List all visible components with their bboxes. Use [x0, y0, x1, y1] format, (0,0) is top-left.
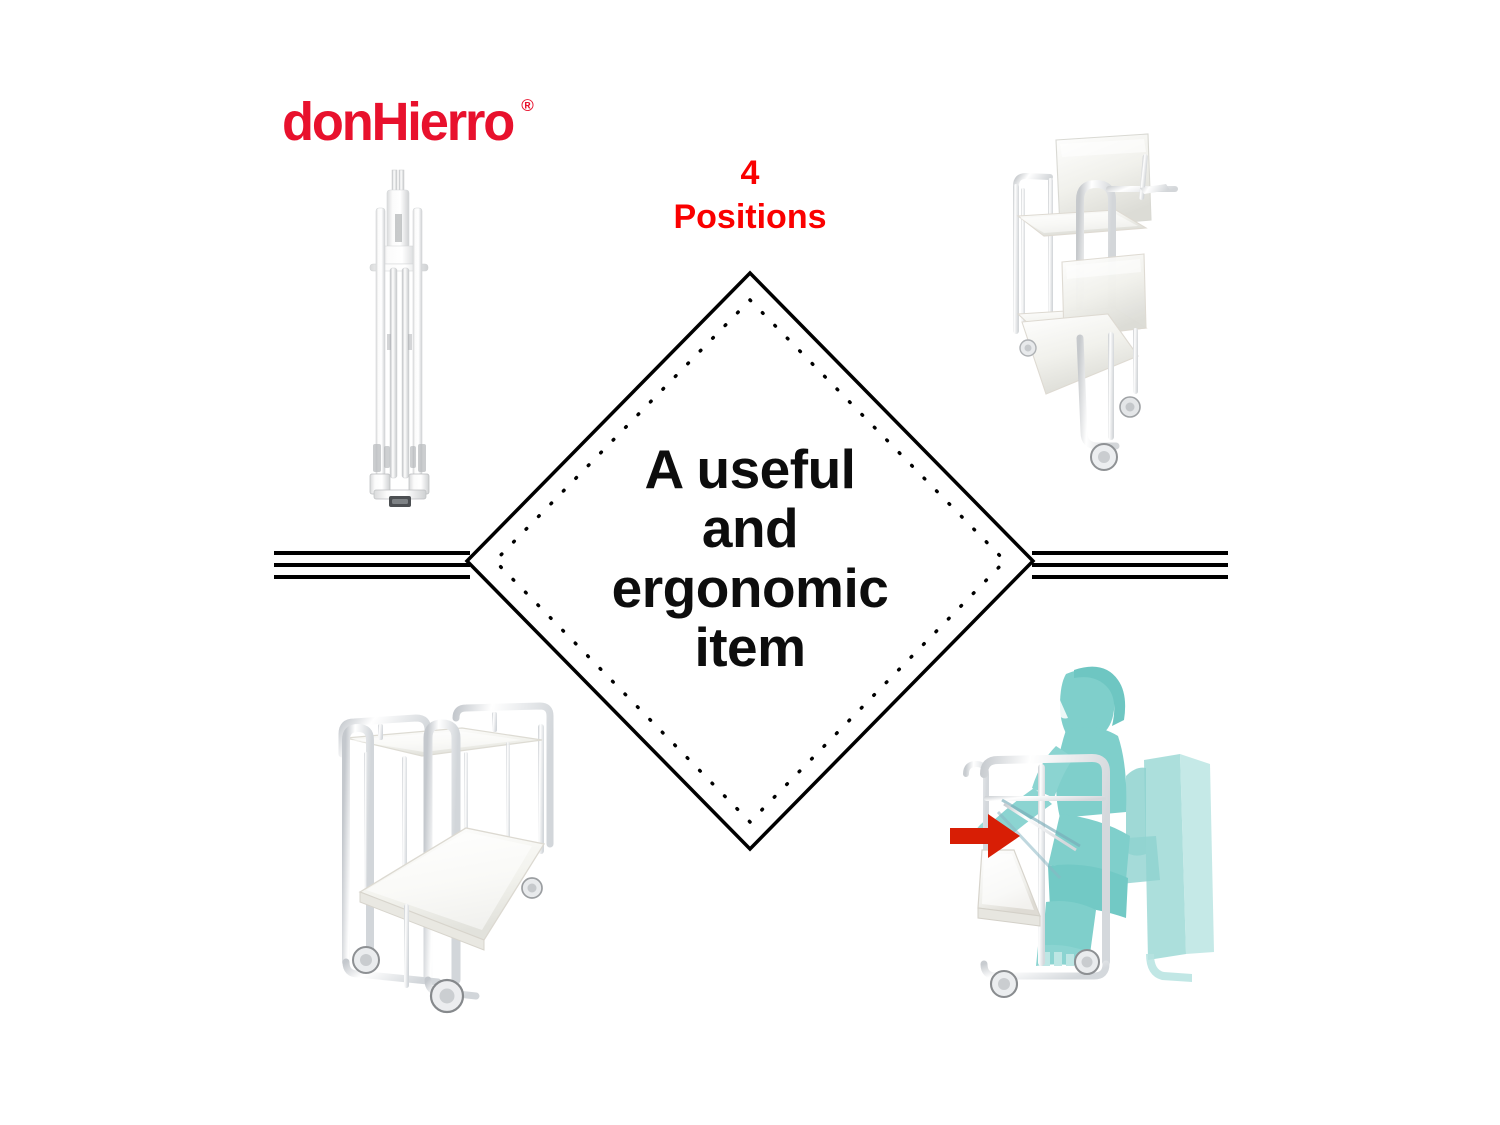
positions-headline: 4 Positions: [600, 152, 900, 239]
rule-line: [274, 563, 470, 567]
rule-line: [1032, 563, 1228, 567]
diamond-line-1: A useful: [560, 440, 940, 499]
diamond-line-3: ergonomic: [560, 559, 940, 618]
cart-folded-flat-image: [352, 168, 448, 516]
diamond-line-4: item: [560, 618, 940, 677]
rule-line: [1032, 575, 1228, 579]
rule-line: [1032, 551, 1228, 555]
registered-trademark-icon: ®: [521, 97, 534, 114]
triple-rule-left: [274, 551, 470, 579]
rule-line: [274, 575, 470, 579]
triple-rule-right: [1032, 551, 1228, 579]
cart-in-use-image: [948, 664, 1220, 1020]
cart-fully-open-image: [316, 690, 580, 1030]
diamond-line-2: and: [560, 499, 940, 558]
positions-label: Positions: [600, 196, 900, 240]
brand-logo-text: donHierro: [282, 95, 513, 149]
positions-count: 4: [600, 152, 900, 196]
rule-line: [274, 551, 470, 555]
brand-logo: donHierro ®: [282, 95, 534, 149]
cart-semi-folded-image: [988, 132, 1188, 484]
diamond-caption: A useful and ergonomic item: [560, 440, 940, 678]
slide-canvas: donHierro ® 4 Positions A useful and erg…: [0, 0, 1500, 1125]
